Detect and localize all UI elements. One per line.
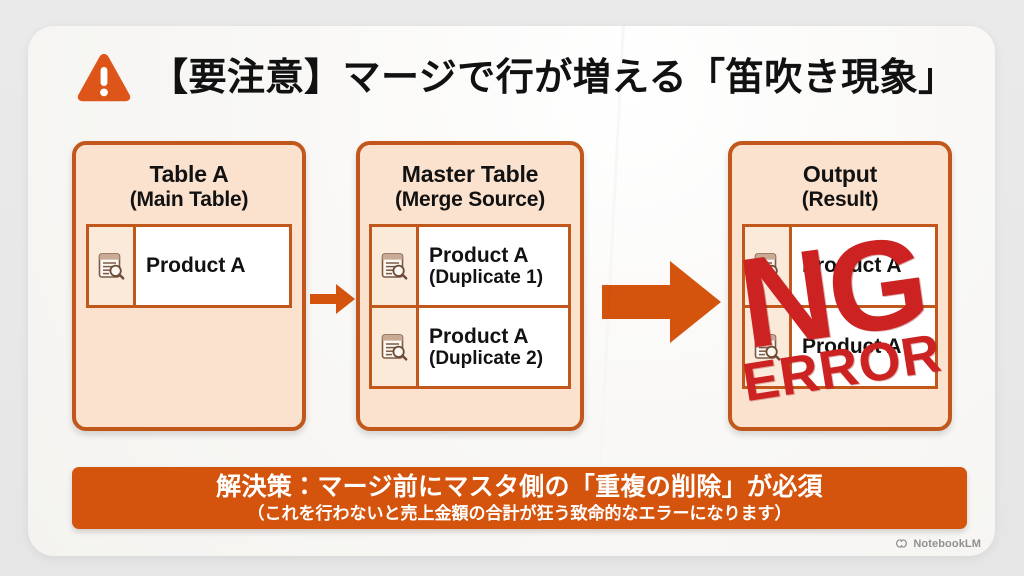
document-search-icon xyxy=(379,251,409,281)
table-row: Product A (Duplicate 1) xyxy=(372,227,568,305)
panel-subtitle-text: (Result) xyxy=(738,188,942,212)
master-table-rows: Product A (Duplicate 1) xyxy=(369,224,571,389)
document-search-icon xyxy=(752,251,782,281)
row-text-cell: Product A (Duplicate 2) xyxy=(419,308,568,386)
row-icon-cell xyxy=(745,308,792,386)
notebooklm-watermark: NotebookLM xyxy=(895,537,981,550)
panel-table-a: Table A (Main Table) xyxy=(72,141,306,431)
row-icon-cell xyxy=(745,227,792,305)
slide-header: 【要注意】マージで行が増える「笛吹き現象」 xyxy=(76,52,957,104)
row-label: Product A xyxy=(429,325,562,348)
slide-root: 【要注意】マージで行が増える「笛吹き現象」 Table A (Main Tabl… xyxy=(0,0,1024,576)
row-icon-cell xyxy=(372,227,419,305)
row-label: Product A xyxy=(802,254,929,277)
table-row: Product A (Duplicate 2) xyxy=(372,305,568,386)
output-table-rows: Product A xyxy=(742,224,938,389)
row-icon-cell xyxy=(89,227,136,305)
row-text-cell: Product A xyxy=(792,308,935,386)
banner-sub-text: （これを行わないと売上金額の合計が狂う致命的なエラーになります） xyxy=(248,504,792,524)
diagram-panels: Table A (Main Table) xyxy=(72,141,967,436)
solution-banner: 解決策：マージ前にマスタ側の「重複の削除」が必須 （これを行わないと売上金額の合… xyxy=(72,467,967,529)
panel-title-table-a: Table A (Main Table) xyxy=(76,161,302,212)
arrow-right-icon xyxy=(310,281,356,317)
arrow-right-icon xyxy=(602,259,722,345)
row-text-cell: Product A (Duplicate 1) xyxy=(419,227,568,305)
table-row: Product A xyxy=(89,227,289,305)
row-label: Product A xyxy=(802,335,929,358)
row-sublabel: (Duplicate 2) xyxy=(429,348,562,369)
table-a-rows: Product A xyxy=(86,224,292,308)
document-search-icon xyxy=(379,332,409,362)
table-row: Product A xyxy=(745,227,935,305)
panel-title-master-table: Master Table (Merge Source) xyxy=(360,161,580,212)
document-search-icon xyxy=(96,251,126,281)
panel-title-text: Master Table xyxy=(402,161,539,187)
panel-output: Output (Result) xyxy=(728,141,952,431)
row-icon-cell xyxy=(372,308,419,386)
page-title: 【要注意】マージで行が増える「笛吹き現象」 xyxy=(150,59,957,97)
banner-main-text: 解決策：マージ前にマスタ側の「重複の削除」が必須 xyxy=(216,473,823,501)
warning-triangle-icon xyxy=(76,52,132,104)
notebooklm-logo-icon xyxy=(895,537,908,550)
panel-title-text: Output xyxy=(803,161,877,187)
panel-master-table: Master Table (Merge Source) xyxy=(356,141,584,431)
panel-title-text: Table A xyxy=(149,161,228,187)
panel-title-output: Output (Result) xyxy=(732,161,948,212)
panel-subtitle-text: (Merge Source) xyxy=(366,188,574,212)
row-label: Product A xyxy=(429,244,562,267)
row-text-cell: Product A xyxy=(136,227,289,305)
panel-subtitle-text: (Main Table) xyxy=(82,188,296,212)
row-label: Product A xyxy=(146,254,283,277)
table-row: Product A xyxy=(745,305,935,386)
row-sublabel: (Duplicate 1) xyxy=(429,267,562,288)
row-text-cell: Product A xyxy=(792,227,935,305)
slide-card: 【要注意】マージで行が増える「笛吹き現象」 Table A (Main Tabl… xyxy=(28,26,995,556)
document-search-icon xyxy=(752,332,782,362)
watermark-label: NotebookLM xyxy=(913,538,981,550)
